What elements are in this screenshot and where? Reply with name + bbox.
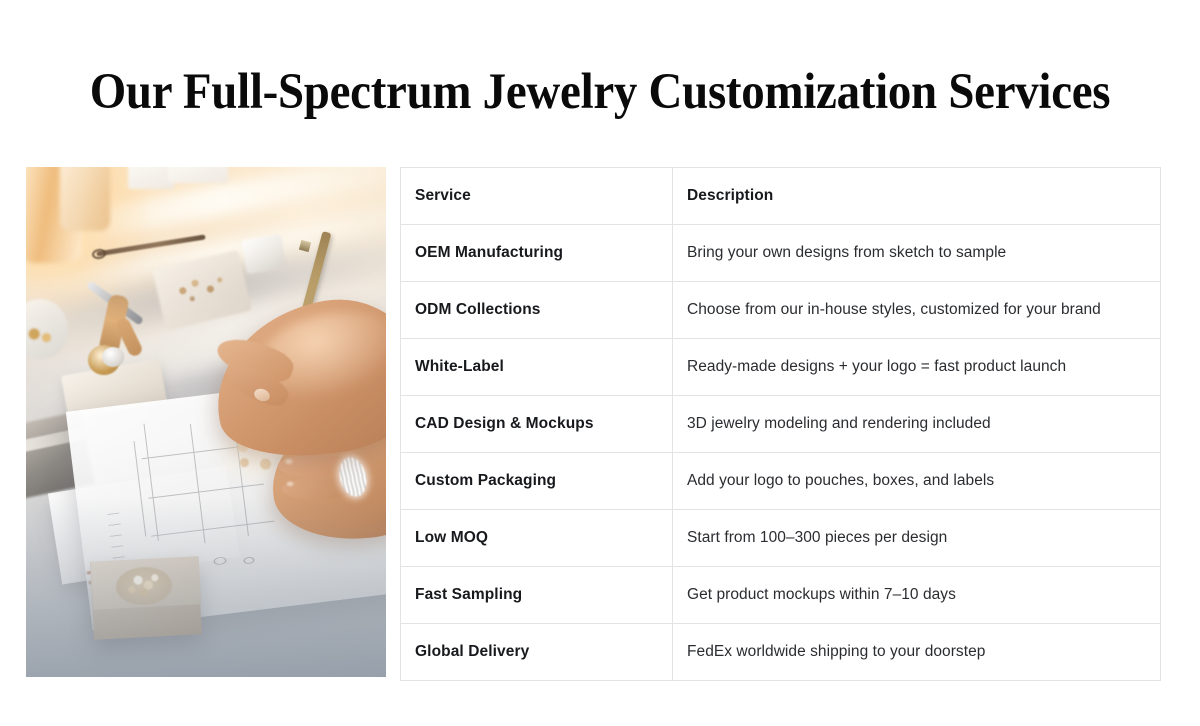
page-title: Our Full-Spectrum Jewelry Customization … [48,62,1152,122]
service-name: CAD Design & Mockups [401,396,673,453]
content-area: Service Description OEM Manufacturing Br… [0,167,1200,679]
service-description: Start from 100–300 pieces per design [673,510,1161,567]
service-description: Bring your own designs from sketch to sa… [673,225,1161,282]
service-name: OEM Manufacturing [401,225,673,282]
service-description: Ready-made designs + your logo = fast pr… [673,339,1161,396]
service-description: Choose from our in-house styles, customi… [673,282,1161,339]
table-row: OEM Manufacturing Bring your own designs… [401,225,1161,282]
table-head: Service Description [401,168,1161,225]
table-body: OEM Manufacturing Bring your own designs… [401,225,1161,681]
service-description: FedEx worldwide shipping to your doorste… [673,624,1161,681]
table-header-row: Service Description [401,168,1161,225]
service-description: Add your logo to pouches, boxes, and lab… [673,453,1161,510]
column-header-description: Description [673,168,1161,225]
service-name: Custom Packaging [401,453,673,510]
photo-canvas [26,167,386,677]
table-row: Low MOQ Start from 100–300 pieces per de… [401,510,1161,567]
services-page: Our Full-Spectrum Jewelry Customization … [0,0,1200,726]
table-row: ODM Collections Choose from our in-house… [401,282,1161,339]
service-name: White-Label [401,339,673,396]
table-row: Fast Sampling Get product mockups within… [401,567,1161,624]
workbench-photo [26,167,386,677]
table-row: Global Delivery FedEx worldwide shipping… [401,624,1161,681]
gold-findings [26,321,58,347]
service-name: Fast Sampling [401,567,673,624]
column-header-service: Service [401,168,673,225]
service-description: Get product mockups within 7–10 days [673,567,1161,624]
glass-cube [241,234,286,274]
services-table: Service Description OEM Manufacturing Br… [400,167,1161,681]
service-name: Global Delivery [401,624,673,681]
cool-shadow-wash [26,497,386,677]
table-row: CAD Design & Mockups 3D jewelry modeling… [401,396,1161,453]
service-name: ODM Collections [401,282,673,339]
service-description: 3D jewelry modeling and rendering includ… [673,396,1161,453]
ring-gemstone [102,347,124,367]
table-row: White-Label Ready-made designs + your lo… [401,339,1161,396]
service-name: Low MOQ [401,510,673,567]
table-row: Custom Packaging Add your logo to pouche… [401,453,1161,510]
white-block [168,167,228,183]
amber-glass-icon [60,167,110,231]
